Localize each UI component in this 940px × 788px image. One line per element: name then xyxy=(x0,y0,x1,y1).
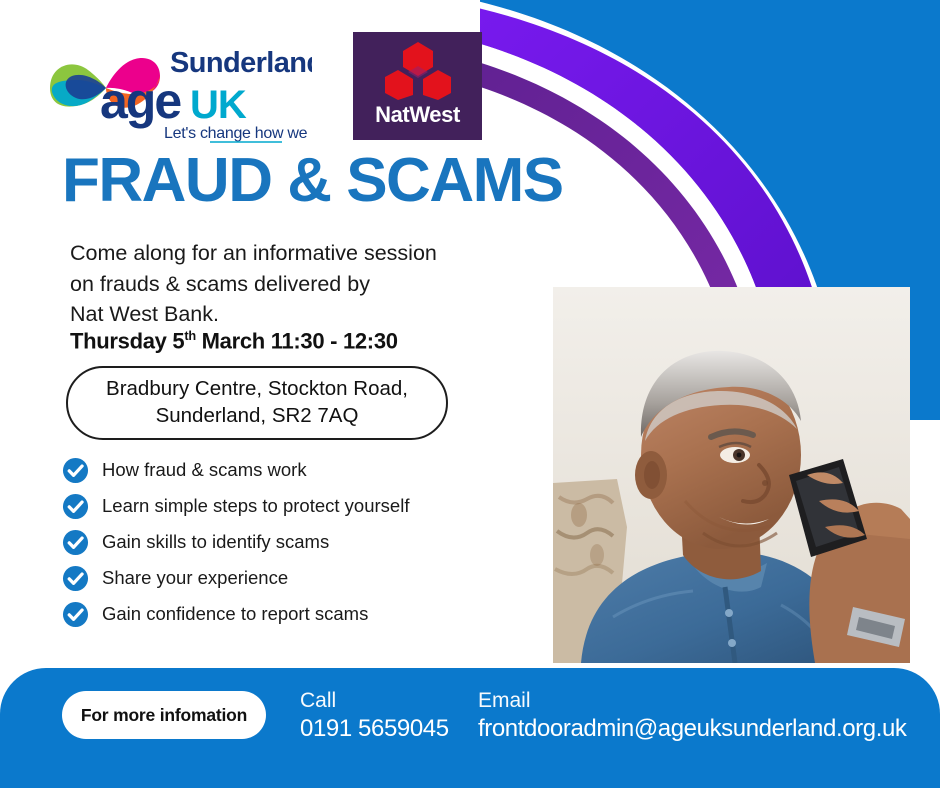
check-circle-icon xyxy=(62,493,89,520)
checklist-label: Gain confidence to report scams xyxy=(102,603,368,625)
logo-tagline-text: Let's change how we age xyxy=(164,125,312,142)
checklist-label: Learn simple steps to protect yourself xyxy=(102,495,409,517)
checklist-label: Gain skills to identify scams xyxy=(102,531,329,553)
contact-call-value[interactable]: 0191 5659045 xyxy=(300,714,449,743)
venue-address-box: Bradbury Centre, Stockton Road, Sunderla… xyxy=(66,366,448,440)
more-information-badge: For more infomation xyxy=(62,691,266,739)
list-item: Gain confidence to report scams xyxy=(62,596,482,632)
natwest-cube-icon xyxy=(381,40,455,102)
logo-sunderland-text: Sunderland xyxy=(170,47,312,79)
event-date-prefix: Thursday 5 xyxy=(70,328,184,353)
venue-line-2: Sunderland, SR2 7AQ xyxy=(156,403,359,430)
intro-line-3: Nat West Bank. xyxy=(70,299,490,330)
check-circle-icon xyxy=(62,565,89,592)
check-circle-icon xyxy=(62,529,89,556)
list-item: Gain skills to identify scams xyxy=(62,524,482,560)
intro-line-1: Come along for an informative session xyxy=(70,238,490,269)
intro-copy: Come along for an informative session on… xyxy=(70,238,490,330)
benefits-checklist: How fraud & scams work Learn simple step… xyxy=(62,452,482,632)
natwest-wordmark: NatWest xyxy=(375,104,460,126)
event-date-suffix: March 11:30 - 12:30 xyxy=(202,328,398,353)
event-datetime: Thursday 5th March 11:30 - 12:30 xyxy=(70,328,398,354)
contact-phone: Call 0191 5659045 xyxy=(300,688,449,743)
checklist-label: How fraud & scams work xyxy=(102,459,307,481)
contact-email-value[interactable]: frontdooradmin@ageuksunderland.org.uk xyxy=(478,714,907,743)
event-date-ordinal: th xyxy=(184,328,195,343)
contact-call-heading: Call xyxy=(300,688,449,714)
contact-email: Email frontdooradmin@ageuksunderland.org… xyxy=(478,688,907,743)
hero-photo xyxy=(553,287,910,663)
age-uk-sunderland-logo: Sunderland age UK Let's change how we ag… xyxy=(42,36,312,144)
check-circle-icon xyxy=(62,601,89,628)
footer-contact-bar: For more infomation Call 0191 5659045 Em… xyxy=(0,668,940,788)
venue-line-1: Bradbury Centre, Stockton Road, xyxy=(106,376,408,403)
logo-uk-text: UK xyxy=(190,83,247,127)
list-item: How fraud & scams work xyxy=(62,452,482,488)
checklist-label: Share your experience xyxy=(102,567,288,589)
list-item: Share your experience xyxy=(62,560,482,596)
natwest-logo: NatWest xyxy=(353,32,482,140)
check-circle-icon xyxy=(62,457,89,484)
poster-canvas: Sunderland age UK Let's change how we ag… xyxy=(0,0,940,788)
page-title: FRAUD & SCAMS xyxy=(62,150,563,212)
contact-email-heading: Email xyxy=(478,688,907,714)
list-item: Learn simple steps to protect yourself xyxy=(62,488,482,524)
logo-age-text: age xyxy=(100,73,181,129)
intro-line-2: on frauds & scams delivered by xyxy=(70,269,490,300)
